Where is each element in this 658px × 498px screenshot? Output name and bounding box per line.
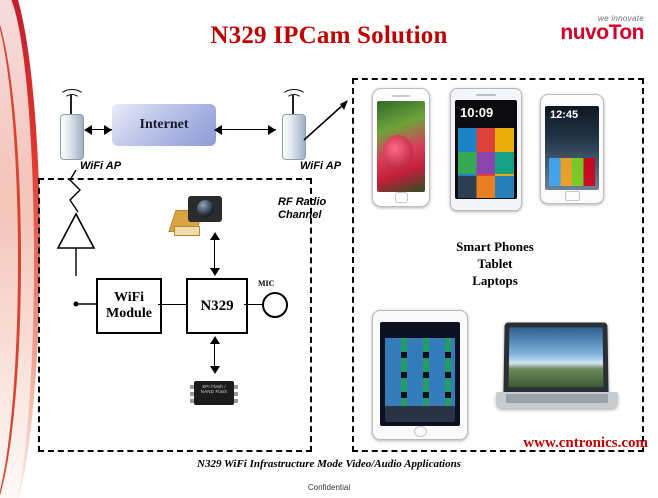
mic-label: MIC [258,279,274,288]
smartphone-3: 12:45 [540,94,604,204]
watermark: www.cntronics.com [523,435,648,452]
slide-canvas: N329 IPCam Solution we innovate nuvoTon … [0,0,658,498]
rf-link-devices [300,96,360,146]
ipcam-antenna [56,170,96,280]
nuvoton-logo: we innovate nuvoTon [560,14,644,43]
laptop-device [496,322,618,424]
smartphone-3-time: 12:45 [550,109,578,121]
camera-sensor [172,196,228,236]
rf-label-line1: RF Radio [278,196,326,208]
tablet-device [372,310,468,440]
wifi-module-line2: Module [106,306,152,322]
devices-caption-line2: Tablet [372,255,618,272]
arrowhead-left-1 [84,125,92,135]
arrowhead-right-2 [268,125,276,135]
flash-chip-label: SPI Flash / NAND Flash [197,384,231,394]
internet-label: Internet [112,104,216,146]
smartphone-2: 10:09 [450,88,522,211]
confidential-label: Confidential [0,483,658,492]
devices-caption-line3: Laptops [372,272,618,289]
wifi-ap-right-label: WiFi AP [300,160,341,172]
slide-footnote: N329 WiFi Infrastructure Mode Video/Audi… [0,458,658,470]
page-title: N329 IPCam Solution [0,22,658,50]
wifi-module-block: WiFi Module [96,278,162,334]
rf-label-line2: Channel [278,209,321,221]
arrowhead-up-cam [210,232,220,240]
internet-cloud: Internet [112,104,216,146]
wifi-module-line1: WiFi [106,290,152,306]
n329-label: N329 [200,298,233,314]
arrowhead-left-2 [214,125,222,135]
wifi-ap-left [54,88,88,158]
smartphone-1 [372,88,430,207]
logo-name: nuvoTon [560,23,644,43]
smartphone-2-time: 10:09 [460,105,493,120]
arrowhead-right-1 [104,125,112,135]
link-n329-mic [244,304,262,305]
link-wifi-n329 [158,304,186,305]
arrowhead-up-flash [210,336,220,344]
devices-caption: Smart Phones Tablet Laptops [372,238,618,289]
rf-radio-channel-label: RF Radio Channel [278,196,338,222]
arrowhead-down-cam [210,268,220,276]
flash-chip: SPI Flash / NAND Flash [190,378,238,408]
n329-block: N329 [186,278,248,334]
devices-caption-line1: Smart Phones [372,238,618,255]
arrowhead-down-flash [210,366,220,374]
